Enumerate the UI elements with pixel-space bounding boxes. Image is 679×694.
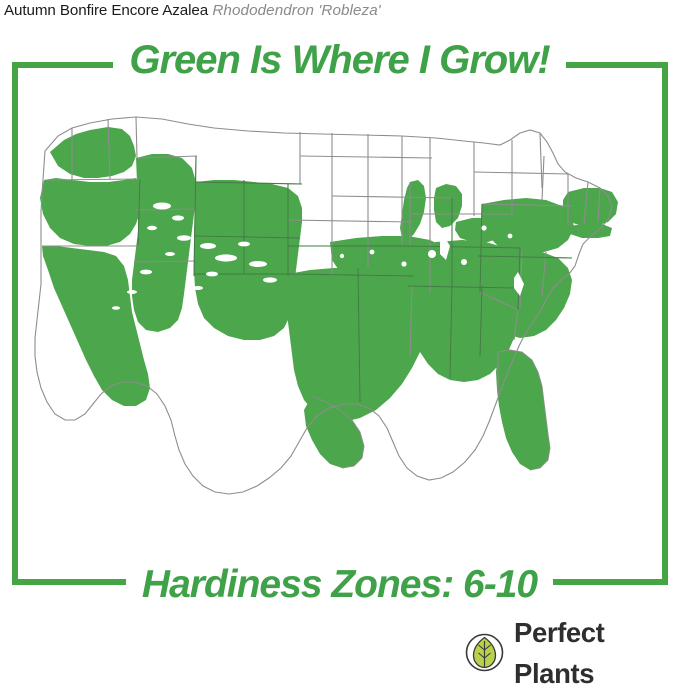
shaded-zone-regions [40, 127, 618, 470]
leaf-in-circle-icon [464, 632, 505, 673]
banner-heading-bottom-text: Hardiness Zones: 6-10 [126, 558, 553, 612]
us-map-svg [12, 96, 668, 556]
map-base-layer [40, 127, 618, 470]
banner-heading-bottom: Hardiness Zones: 6-10 [0, 558, 679, 612]
brand-logo: Perfect Plants [464, 631, 679, 674]
product-botanical-name: Rhododendron 'Robleza' [208, 2, 381, 19]
product-caption: Autumn Bonfire Encore Azalea Rhododendro… [4, 1, 381, 21]
brand-name: Perfect Plants [514, 612, 679, 694]
product-common-name: Autumn Bonfire Encore Azalea [4, 2, 208, 19]
hardiness-zone-map [12, 96, 668, 556]
banner-heading-top: Green Is Where I Grow! [0, 32, 679, 88]
banner-heading-top-text: Green Is Where I Grow! [113, 32, 565, 88]
